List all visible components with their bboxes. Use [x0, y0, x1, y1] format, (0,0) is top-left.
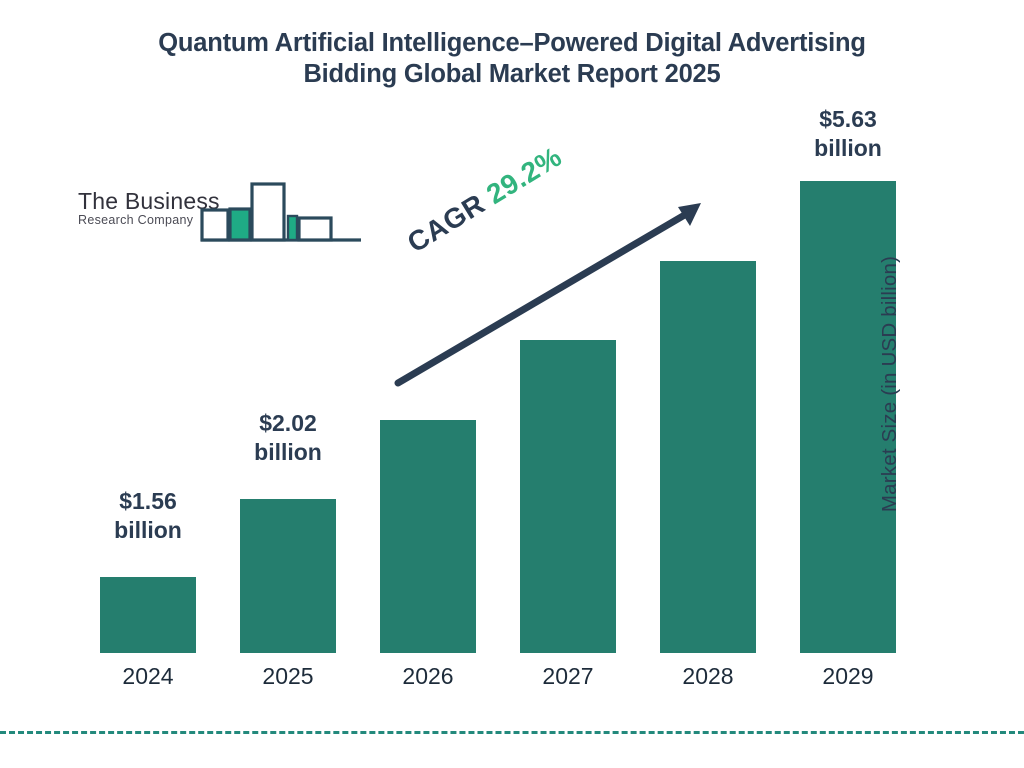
cagr-value: 29.2%	[481, 141, 567, 210]
bar-2027[interactable]	[520, 340, 616, 653]
x-tick-2028: 2028	[660, 662, 756, 690]
bar-label-2025: $2.02 billion	[220, 409, 356, 467]
x-tick-2025: 2025	[240, 662, 336, 690]
chart-canvas: Quantum Artificial Intelligence–Powered …	[0, 0, 1024, 768]
bar-label-2024: $1.56 billion	[80, 487, 216, 545]
cagr-label: CAGR	[402, 184, 497, 259]
cagr-annotation: CAGR 29.2%	[402, 141, 568, 260]
x-tick-2026: 2026	[380, 662, 476, 690]
footer-divider	[0, 731, 1024, 734]
bar-2026[interactable]	[380, 420, 476, 653]
bar-label-2029: $5.63 billion	[780, 105, 916, 163]
bar-2028[interactable]	[660, 261, 756, 653]
plot-area: $1.56 billion $2.02 billion $5.63 billio…	[0, 0, 1024, 768]
x-tick-2027: 2027	[520, 662, 616, 690]
x-tick-2029: 2029	[800, 662, 896, 690]
y-axis-title: Market Size (in USD billion)	[878, 256, 902, 512]
bar-2025[interactable]	[240, 499, 336, 653]
bar-2024[interactable]	[100, 577, 196, 653]
x-tick-2024: 2024	[100, 662, 196, 690]
